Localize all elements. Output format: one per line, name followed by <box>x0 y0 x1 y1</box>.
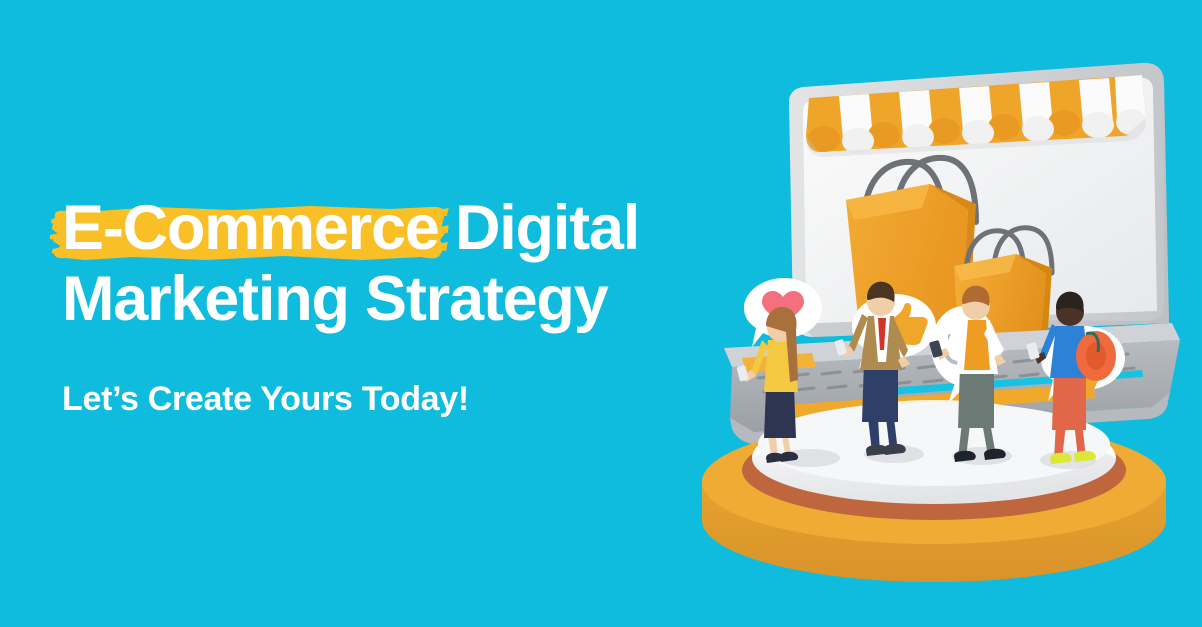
banner-copy-block: E-Commerce Digital Marketing Strategy Le… <box>62 196 762 419</box>
headline-line-1-rest: Digital <box>439 193 639 263</box>
illustration-svg <box>672 40 1202 600</box>
headline-line-1: E-Commerce Digital <box>62 196 762 260</box>
headline-highlighted-word: E-Commerce <box>62 193 439 263</box>
subheadline: Let’s Create Yours Today! <box>62 380 762 419</box>
ecommerce-illustration <box>672 40 1202 600</box>
highlighted-word-wrap: E-Commerce <box>62 196 439 260</box>
headline-line-2: Marketing Strategy <box>62 267 762 331</box>
ecommerce-marketing-banner: E-Commerce Digital Marketing Strategy Le… <box>0 0 1202 627</box>
